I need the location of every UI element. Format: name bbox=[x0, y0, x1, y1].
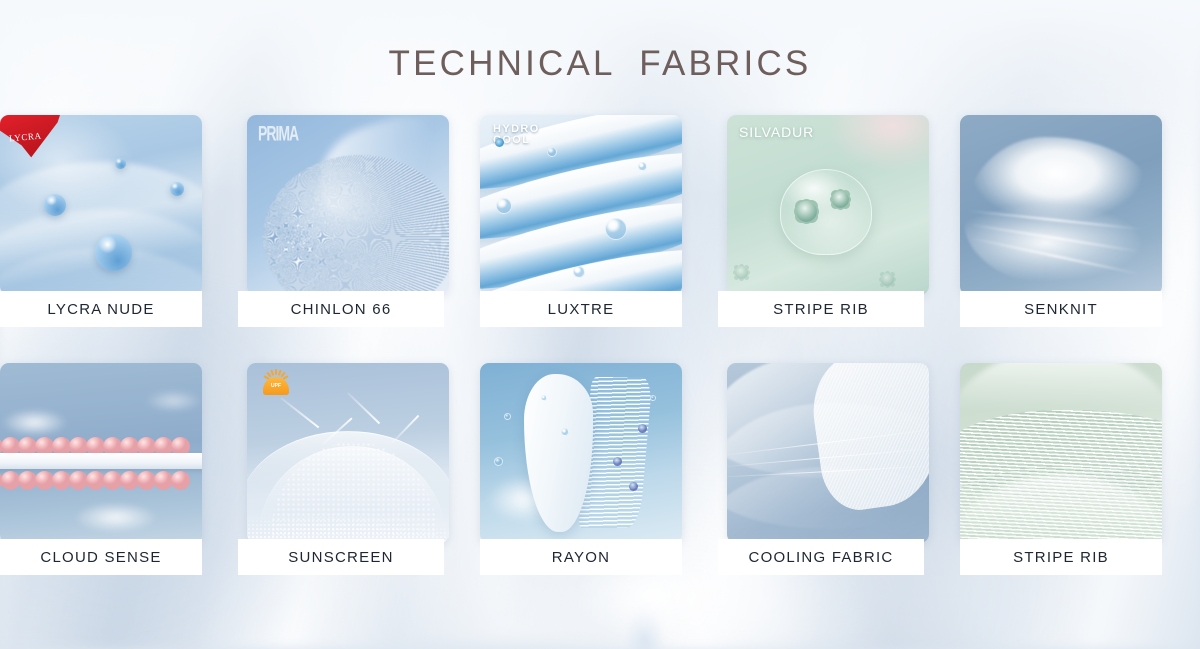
prima-logo-icon: PRIMA bbox=[258, 121, 298, 145]
fabric-label-bar: SENKNIT bbox=[960, 291, 1162, 327]
fabric-label-bar: STRIPE RIB bbox=[960, 539, 1162, 575]
fabric-card-luxtre[interactable]: HYDRO COOL LUXTRE bbox=[480, 115, 720, 327]
fabric-label-luxtre: LUXTRE bbox=[548, 301, 615, 318]
fabric-label-stripe-rib-silvadur: STRIPE RIB bbox=[773, 301, 869, 318]
fabric-image-stripe-rib-silvadur bbox=[727, 115, 929, 295]
fabric-card-stripe-rib-green[interactable]: STRIPE RIB bbox=[960, 363, 1200, 575]
fabric-thumbnail-rayon[interactable] bbox=[480, 363, 682, 543]
fabric-card-stripe-rib-silvadur[interactable]: SILVADUR STRIPE RIB bbox=[720, 115, 960, 327]
fabric-thumbnail-sunscreen[interactable]: UPF bbox=[247, 363, 449, 543]
fabric-card-senknit[interactable]: SENKNIT bbox=[960, 115, 1200, 327]
fabric-thumbnail-stripe-rib-green[interactable] bbox=[960, 363, 1162, 543]
molecule-icon bbox=[495, 138, 504, 147]
fabric-thumbnail-lycra-nude[interactable]: LYCRA bbox=[0, 115, 202, 295]
page-title: TECHNICAL FABRICS bbox=[0, 44, 1200, 84]
fabric-label-bar: RAYON bbox=[480, 539, 682, 575]
fabric-image-rayon bbox=[480, 363, 682, 543]
fabric-label-bar: CHINLON 66 bbox=[238, 291, 444, 327]
fabric-label-bar: CLOUD SENSE bbox=[0, 539, 202, 575]
hydro-cool-logo-icon: HYDRO COOL bbox=[493, 124, 540, 146]
fabric-label-senknit: SENKNIT bbox=[1024, 301, 1098, 318]
fabric-label-bar: LYCRA NUDE bbox=[0, 291, 202, 327]
fabric-label-bar: SUNSCREEN bbox=[238, 539, 444, 575]
technical-fabrics-page: TECHNICAL FABRICS LYCRA bbox=[0, 0, 1200, 649]
fabric-label-bar: STRIPE RIB bbox=[718, 291, 924, 327]
fabric-label-bar: LUXTRE bbox=[480, 291, 682, 327]
fabric-thumbnail-cloud-sense[interactable] bbox=[0, 363, 202, 543]
fabric-image-cloud-sense bbox=[0, 363, 202, 543]
silvadur-logo-text: SILVADUR bbox=[739, 124, 814, 140]
fabric-label-stripe-rib-green: STRIPE RIB bbox=[1013, 549, 1109, 566]
fabric-card-cooling-fabric[interactable]: COOLING FABRIC bbox=[720, 363, 960, 575]
fabric-card-lycra-nude[interactable]: LYCRA LYCRA NUDE bbox=[0, 115, 240, 327]
fabric-label-sunscreen: SUNSCREEN bbox=[288, 549, 393, 566]
fabric-card-chinlon-66[interactable]: PRIMA CHINLON 66 bbox=[240, 115, 480, 327]
fabric-image-cooling-fabric bbox=[727, 363, 929, 543]
fabric-thumbnail-cooling-fabric[interactable] bbox=[727, 363, 929, 543]
fabric-label-rayon: RAYON bbox=[552, 549, 610, 566]
fabric-card-grid: LYCRA LYCRA NUDE PRIMA CHINLON 66 bbox=[0, 115, 1200, 575]
fabric-label-cooling-fabric: COOLING FABRIC bbox=[748, 549, 893, 566]
fabric-card-cloud-sense[interactable]: CLOUD SENSE bbox=[0, 363, 240, 575]
fabric-thumbnail-senknit[interactable] bbox=[960, 115, 1162, 295]
upf-badge-line-1: UPF bbox=[271, 384, 281, 389]
fabric-thumbnail-chinlon-66[interactable]: PRIMA bbox=[247, 115, 449, 295]
upf-sun-icon: UPF bbox=[255, 369, 297, 399]
fabric-card-rayon[interactable]: RAYON bbox=[480, 363, 720, 575]
fabric-label-bar: COOLING FABRIC bbox=[718, 539, 924, 575]
fabric-card-sunscreen[interactable]: UPF SUNSCREEN bbox=[240, 363, 480, 575]
fabric-label-chinlon-66: CHINLON 66 bbox=[291, 301, 392, 318]
fabric-image-stripe-rib-green bbox=[960, 363, 1162, 543]
lycra-logo-icon: LYCRA bbox=[0, 115, 60, 161]
fabric-label-cloud-sense: CLOUD SENSE bbox=[40, 549, 161, 566]
fabric-thumbnail-stripe-rib-silvadur[interactable]: SILVADUR bbox=[727, 115, 929, 295]
fabric-thumbnail-luxtre[interactable]: HYDRO COOL bbox=[480, 115, 682, 295]
fabric-image-senknit bbox=[960, 115, 1162, 295]
fabric-label-lycra-nude: LYCRA NUDE bbox=[47, 301, 154, 318]
